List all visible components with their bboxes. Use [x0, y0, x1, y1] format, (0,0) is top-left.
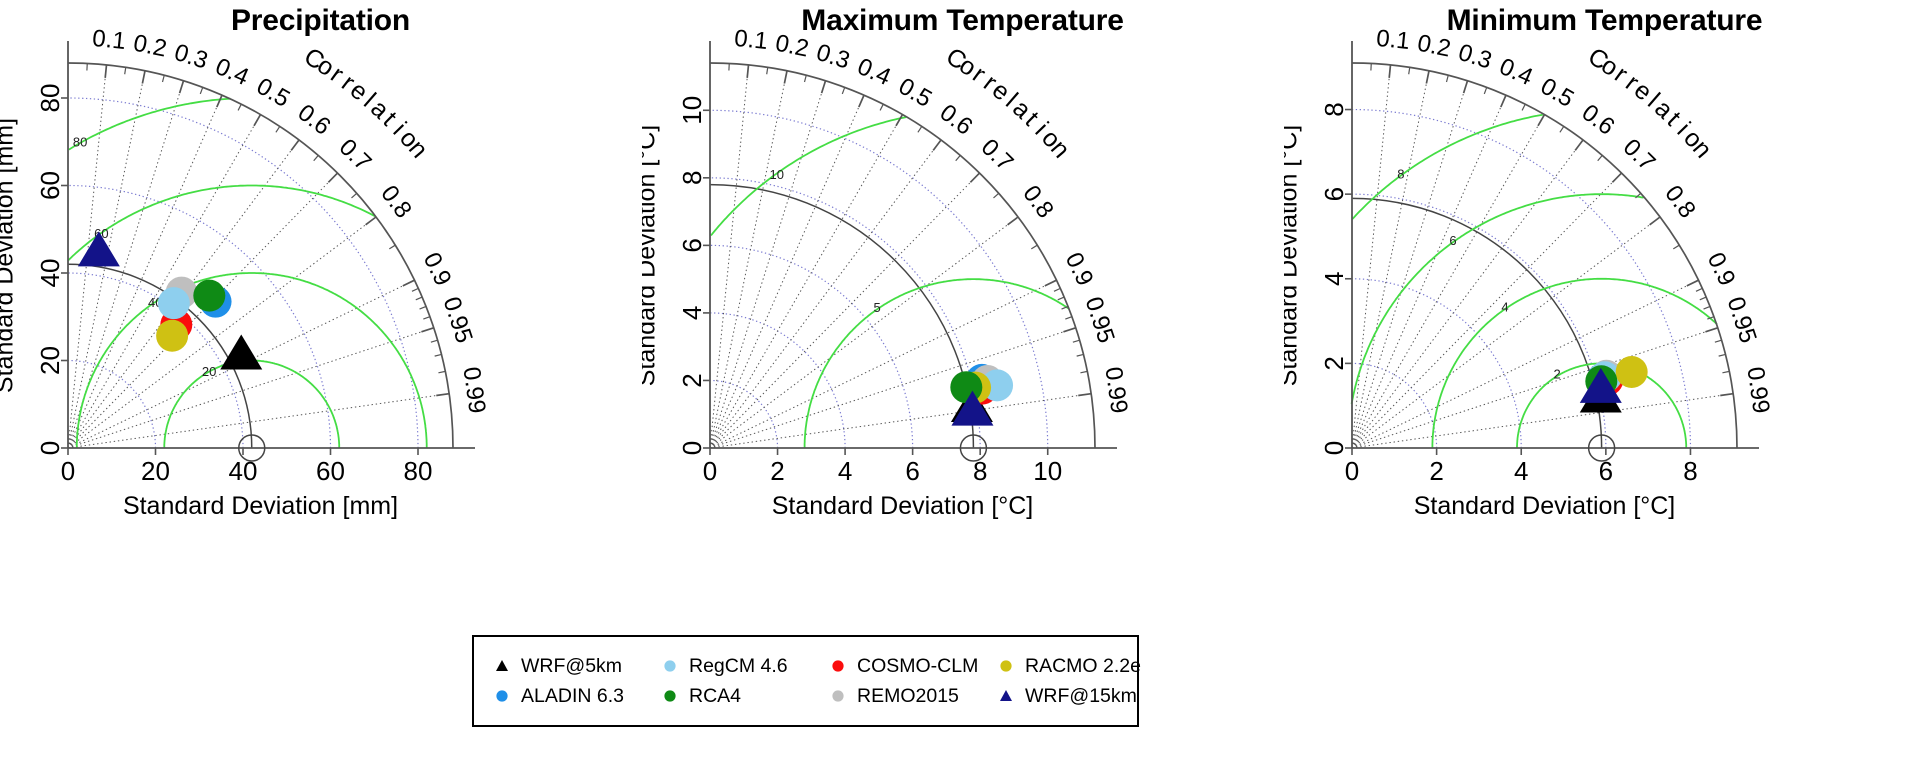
correlation-tick	[1054, 288, 1060, 291]
correlation-tick	[1426, 71, 1429, 84]
grid-layer	[710, 65, 1091, 448]
correlation-tick	[842, 87, 844, 94]
correlation-tick-label: 0.99	[1741, 365, 1774, 415]
correlation-tick-label: 0.95	[1080, 294, 1120, 347]
x-axis-tick-label: 8	[1683, 456, 1697, 486]
correlation-tick	[180, 81, 184, 93]
correlation-tick	[291, 140, 299, 150]
y-axis-tick-label: 20	[35, 346, 65, 375]
correlation-tick-label: 0.6	[293, 99, 336, 141]
legend-item-rca4[interactable]: RCA4	[660, 685, 828, 708]
correlation-outer-arc	[710, 63, 1095, 448]
correlation-tick	[314, 155, 319, 160]
x-axis-title: Standard Deviation [°C]	[772, 492, 1034, 520]
std-grid-arc	[710, 178, 980, 448]
x-axis-tick-label: 0	[61, 456, 75, 486]
legend-item-regcm-46[interactable]: RegCM 4.6	[660, 655, 828, 678]
panel-minimum-temperature: Minimum Temperature 24680.10.20.30.40.50…	[1284, 0, 1925, 620]
taylor-plot: 24680.10.20.30.40.50.60.70.80.90.950.99C…	[1284, 0, 1925, 620]
x-axis-tick-label: 60	[316, 456, 345, 486]
x-axis-tick-label: 0	[1345, 456, 1359, 486]
correlation-radial-line	[710, 115, 903, 448]
correlation-tick-label: 0.7	[334, 134, 377, 177]
correlation-radial-line	[1352, 115, 1545, 448]
correlation-radial-line	[710, 65, 749, 448]
legend-item-remo2015[interactable]: REMO2015	[828, 685, 996, 708]
legend-label: COSMO-CLM	[857, 655, 978, 678]
x-axis-tick-label: 20	[141, 456, 170, 486]
correlation-tick	[1501, 95, 1506, 107]
correlation-tick-label: 0.99	[1099, 365, 1132, 415]
correlation-tick-label: 0.7	[1618, 134, 1661, 177]
correlation-tick	[767, 67, 768, 74]
y-axis-tick-label: 0	[677, 441, 707, 455]
correlation-tick	[1719, 354, 1726, 356]
x-axis-title: Standard Deviation [mm]	[123, 492, 398, 520]
data-point-wrf-5km[interactable]	[220, 334, 262, 369]
correlation-radial-line	[1352, 71, 1429, 448]
legend-item-racmo-22e[interactable]: RACMO 2.2e	[996, 655, 1164, 678]
panel-precipitation: Precipitation 204060800.10.20.30.40.50.6…	[0, 0, 641, 620]
correlation-tick	[416, 297, 422, 300]
y-axis-tick-label: 6	[677, 238, 707, 252]
correlation-tick	[784, 71, 787, 84]
correlation-tick-label: 0.5	[252, 73, 294, 113]
legend-triangle-icon	[996, 686, 1016, 706]
x-axis-tick-label: 10	[1033, 456, 1062, 486]
correlation-tick	[747, 65, 748, 78]
correlation-tick	[403, 280, 415, 286]
legend-label: ALADIN 6.3	[521, 685, 624, 708]
y-axis-tick-label: 2	[677, 373, 707, 387]
correlation-tick	[412, 288, 418, 291]
y-axis-tick-label: 80	[35, 84, 65, 113]
correlation-tick-label: 0.9	[418, 248, 457, 290]
correlation-tick	[423, 317, 430, 319]
correlation-tick	[1058, 297, 1064, 300]
correlation-tick	[1687, 280, 1699, 286]
correlation-radial-line	[710, 328, 1076, 448]
correlation-tick-label: 0.3	[171, 39, 211, 75]
correlation-tick	[1045, 280, 1057, 286]
correlation-tick	[918, 126, 922, 132]
correlation-radial-line	[68, 217, 376, 448]
y-axis-tick-label: 10	[677, 96, 707, 125]
data-point-rca4[interactable]	[193, 280, 225, 312]
correlation-tick	[163, 75, 165, 82]
legend-label: WRF@5km	[521, 655, 622, 678]
y-axis-tick-label: 40	[35, 259, 65, 288]
legend-label: WRF@15km	[1025, 685, 1137, 708]
correlation-tick-label: 0.6	[1577, 99, 1620, 141]
correlation-tick	[1673, 245, 1679, 249]
correlation-tick	[994, 193, 999, 198]
correlation-tick-label: 0.3	[813, 39, 853, 75]
correlation-tick	[1650, 217, 1660, 225]
correlation-tick	[1598, 155, 1603, 160]
correlation-tick-label: 0.8	[1017, 180, 1059, 223]
x-axis-tick-label: 2	[1429, 456, 1443, 486]
rms-contour	[805, 279, 1070, 448]
correlation-tick-label: 0.2	[1415, 30, 1453, 63]
rms-contour	[68, 186, 375, 261]
legend-item-wrf-15km[interactable]: WRF@15km	[996, 685, 1164, 708]
contour-layer: 2468	[1352, 115, 1717, 448]
correlation-tick	[970, 173, 979, 182]
correlation-outer-arc	[1352, 63, 1737, 448]
correlation-tick	[431, 340, 438, 342]
correlation-tick-label: 0.2	[131, 30, 169, 63]
correlation-radial-line	[710, 81, 826, 448]
y-axis-tick-label: 4	[677, 306, 707, 320]
x-axis-tick-label: 80	[404, 456, 433, 486]
legend-label: RegCM 4.6	[689, 655, 788, 678]
correlation-tick-label: 0.5	[894, 73, 936, 113]
correlation-tick	[142, 71, 145, 84]
correlation-tick-label: 0.99	[457, 365, 490, 415]
correlation-tick-label: 0.7	[976, 134, 1019, 177]
correlation-tick	[1484, 87, 1486, 94]
correlation-tick	[125, 67, 126, 74]
correlation-tick-label: 0.3	[1455, 39, 1495, 75]
contour-layer: 510	[710, 117, 1069, 448]
correlation-tick	[1560, 126, 1564, 132]
rms-contour	[69, 99, 231, 150]
y-axis-tick-label: 2	[1319, 356, 1349, 370]
data-point-rca4[interactable]	[950, 371, 982, 403]
correlation-radial-line	[1352, 280, 1699, 448]
correlation-radial-line	[710, 71, 787, 448]
std-grid-arc	[68, 361, 156, 449]
correlation-tick	[1447, 75, 1449, 82]
correlation-tick-label: 0.1	[1375, 25, 1411, 55]
correlation-radial-line	[68, 95, 222, 448]
correlation-tick	[1612, 173, 1621, 182]
correlation-tick	[956, 155, 961, 160]
correlation-tick	[1065, 317, 1072, 319]
correlation-tick	[238, 104, 241, 110]
panel-maximum-temperature: Maximum Temperature 5100.10.20.30.40.50.…	[642, 0, 1283, 620]
reference-std-arc	[710, 185, 973, 448]
std-grid-arc	[68, 186, 331, 449]
correlation-tick	[217, 95, 222, 107]
rms-contour-label: 80	[73, 135, 87, 150]
legend-circle-icon	[492, 686, 512, 706]
rms-contour-label: 8	[1397, 166, 1404, 181]
legend-label: RCA4	[689, 685, 741, 708]
correlation-tick	[822, 81, 826, 93]
correlation-tick	[421, 328, 433, 332]
correlation-tick	[1722, 371, 1729, 372]
data-point-regcm-4-6[interactable]	[158, 287, 190, 319]
correlation-tick	[200, 87, 202, 94]
correlation-tick	[1696, 288, 1702, 291]
y-axis-title: Standard Deviation [°C]	[1284, 125, 1303, 387]
correlation-tick-label: 0.8	[375, 180, 417, 223]
correlation-tick	[805, 75, 807, 82]
y-axis-tick-label: 8	[1319, 102, 1349, 116]
legend-circle-icon	[996, 656, 1016, 676]
correlation-tick	[880, 104, 883, 110]
legend-circle-icon	[660, 686, 680, 706]
correlation-tick	[438, 371, 445, 372]
y-axis-tick-label: 0	[35, 441, 65, 455]
correlation-radial-line	[710, 95, 864, 448]
correlation-radial-line	[1352, 81, 1468, 448]
y-axis-title: Standard Deviation [mm]	[0, 118, 19, 393]
correlation-radial-line	[1352, 65, 1391, 448]
rms-contour-label: 4	[1501, 300, 1508, 315]
correlation-tick-label: 0.1	[91, 25, 127, 55]
correlation-tick	[1008, 217, 1018, 225]
rms-contour-label: 6	[1449, 233, 1456, 248]
data-point-wrf-15km[interactable]	[78, 231, 120, 266]
rms-contour-label: 20	[202, 364, 216, 379]
correlation-tick-label: 0.4	[211, 53, 252, 91]
rms-contour	[1432, 279, 1717, 448]
correlation-tick	[1715, 340, 1722, 342]
correlation-radial-line	[68, 115, 261, 448]
correlation-tick	[1409, 67, 1410, 74]
x-axis-title: Standard Deviation [°C]	[1414, 492, 1676, 520]
taylor-plot: 5100.10.20.30.40.50.60.70.80.90.950.99Co…	[642, 0, 1283, 620]
correlation-tick-label: 0.1	[733, 25, 769, 55]
correlation-tick	[1077, 354, 1084, 356]
data-point-racmo-2-2e[interactable]	[156, 320, 188, 352]
x-axis-tick-label: 4	[838, 456, 852, 486]
correlation-radial-line	[1352, 95, 1506, 448]
reference-std-arc	[1352, 198, 1602, 448]
correlation-tick	[436, 394, 449, 396]
legend-label: REMO2015	[857, 685, 959, 708]
x-axis-tick-label: 6	[905, 456, 919, 486]
data-points-layer	[78, 231, 265, 461]
correlation-tick-label: 0.95	[1722, 294, 1762, 347]
correlation-tick-label: 0.4	[1495, 53, 1536, 91]
correlation-tick-label: 0.4	[853, 53, 894, 91]
correlation-tick	[254, 115, 261, 126]
correlation-tick	[389, 245, 395, 249]
taylor-diagram-figure: Precipitation 204060800.10.20.30.40.50.6…	[0, 0, 1925, 759]
data-points-layer	[950, 364, 1013, 461]
correlation-tick-label: 0.95	[438, 294, 478, 347]
correlation-tick	[1720, 394, 1733, 396]
correlation-tick	[1389, 65, 1390, 78]
correlation-tick	[1704, 306, 1711, 309]
correlation-tick	[276, 126, 280, 132]
correlation-radial-line	[1352, 328, 1718, 448]
grid-layer	[1352, 65, 1733, 448]
legend-item-aladin-63[interactable]: ALADIN 6.3	[492, 685, 660, 708]
x-axis-tick-label: 2	[770, 456, 784, 486]
legend-item-wrf-5km[interactable]: WRF@5km	[492, 655, 660, 678]
correlation-tick	[105, 65, 106, 78]
correlation-tick	[366, 217, 376, 225]
correlation-tick	[1073, 340, 1080, 342]
correlation-tick	[1080, 371, 1087, 372]
correlation-tick	[1464, 81, 1468, 93]
correlation-tick-label: 0.2	[773, 30, 811, 63]
correlation-tick	[1575, 140, 1583, 150]
std-grid-arc	[710, 313, 845, 448]
taylor-plot: 204060800.10.20.30.40.50.60.70.80.90.950…	[0, 0, 641, 620]
correlation-tick	[328, 173, 337, 182]
rms-contour-label: 10	[770, 167, 784, 182]
correlation-tick	[1063, 328, 1075, 332]
correlation-tick	[1078, 394, 1091, 396]
std-grid-arc	[710, 380, 778, 448]
correlation-tick-label: 0.9	[1060, 248, 1099, 290]
legend-triangle-icon	[492, 656, 512, 676]
y-axis-tick-label: 60	[35, 171, 65, 200]
correlation-tick	[933, 140, 941, 150]
correlation-tick-label: 0.5	[1536, 73, 1578, 113]
correlation-tick	[896, 115, 903, 126]
legend-circle-icon	[828, 656, 848, 676]
data-point-racmo-2-2e[interactable]	[1616, 356, 1648, 388]
correlation-tick	[435, 354, 442, 356]
x-axis-tick-label: 0	[703, 456, 717, 486]
contour-layer: 20406080	[68, 99, 427, 448]
std-grid-arc	[1352, 279, 1521, 448]
correlation-tick	[1031, 245, 1037, 249]
y-axis-title: Standard Deviation [°C]	[642, 125, 661, 387]
y-axis-tick-label: 6	[1319, 187, 1349, 201]
legend-grid: WRF@5kmRegCM 4.6COSMO-CLMRACMO 2.2eALADI…	[492, 651, 1164, 711]
y-axis-tick-label: 8	[677, 171, 707, 185]
y-axis-tick-label: 4	[1319, 272, 1349, 286]
correlation-tick	[1700, 297, 1706, 300]
legend-circle-icon	[828, 686, 848, 706]
correlation-tick	[420, 306, 427, 309]
x-axis-tick-label: 4	[1514, 456, 1528, 486]
correlation-tick-label: 0.6	[935, 99, 978, 141]
legend-circle-icon	[660, 656, 680, 676]
correlation-tick-label: 0.9	[1702, 248, 1741, 290]
correlation-tick	[1522, 104, 1525, 110]
rms-contour-label: 5	[873, 300, 880, 315]
axis-layer: 0.10.20.30.40.50.60.70.80.90.950.99Corre…	[642, 25, 1133, 520]
data-points-layer	[1580, 356, 1648, 461]
correlation-tick	[352, 193, 357, 198]
legend-item-cosmo-clm[interactable]: COSMO-CLM	[828, 655, 996, 678]
rms-contour-label: 2	[1554, 366, 1561, 381]
y-axis-tick-label: 0	[1319, 441, 1349, 455]
correlation-tick-label: 0.8	[1659, 180, 1701, 223]
correlation-tick	[1705, 328, 1717, 332]
legend-label: RACMO 2.2e	[1025, 655, 1141, 678]
legend: WRF@5kmRegCM 4.6COSMO-CLMRACMO 2.2eALADI…	[472, 635, 1139, 727]
correlation-tick	[859, 95, 864, 107]
